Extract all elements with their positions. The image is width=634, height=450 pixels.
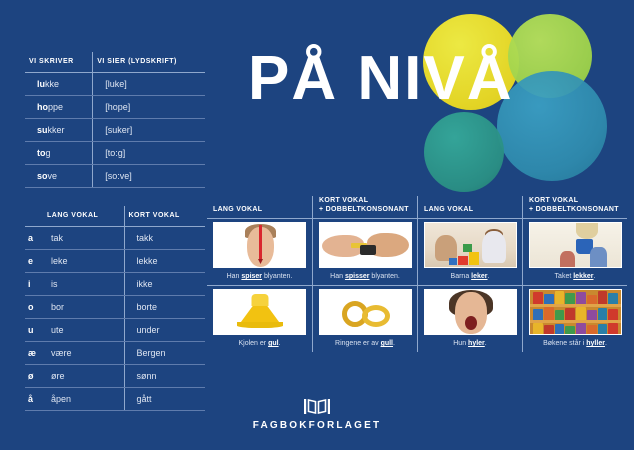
example-caption: Hun hyler.	[424, 335, 516, 352]
children-playing-photo	[424, 222, 517, 268]
examples-header-row: LANG VOKAL KORT VOKAL + DOBBELTKONSONANT…	[207, 196, 627, 218]
spelling-write-cell: tog	[25, 142, 93, 165]
vowel-long-word: være	[43, 342, 124, 365]
vowel-table-header-row: LANG VOKAL KORT VOKAL	[25, 206, 205, 227]
spelling-say-cell: [suker]	[93, 119, 205, 142]
examples-header-3: KORT VOKAL + DOBBELTKONSONANT	[522, 196, 627, 218]
vowel-letter: a	[25, 227, 43, 250]
vowel-short-word: takk	[124, 227, 205, 250]
vowel-header-spacer	[25, 206, 43, 227]
vowel-short-word: Bergen	[124, 342, 205, 365]
example-cell: Han spiser blyanten.	[207, 218, 312, 285]
spelling-write-cell: sove	[25, 165, 93, 188]
table-row: sove [so:ve]	[25, 165, 205, 188]
vowel-short-word: sønn	[124, 365, 205, 388]
table-row: o bor borte	[25, 296, 205, 319]
footer: FAGBOKFORLAGET	[0, 398, 634, 431]
table-row: i is ikke	[25, 273, 205, 296]
hands-sharpening-pencil-photo	[319, 222, 412, 268]
header-line-1: LANG VOKAL	[213, 206, 262, 213]
vowel-short-word: lekke	[124, 250, 205, 273]
example-cell: Hun hyler.	[417, 285, 522, 352]
spelling-table: VI SKRIVER VI SIER (LYDSKRIFT) lukke [lu…	[25, 52, 205, 188]
table-row: ø øre sønn	[25, 365, 205, 388]
spelling-header-say: VI SIER (LYDSKRIFT)	[93, 52, 205, 73]
examples-grid: LANG VOKAL KORT VOKAL + DOBBELTKONSONANT…	[207, 196, 627, 352]
vowel-header-long: LANG VOKAL	[43, 206, 124, 227]
table-gap	[25, 188, 205, 206]
spelling-write-cell: hoppe	[25, 96, 93, 119]
table-row: a tak takk	[25, 227, 205, 250]
vowel-letter: o	[25, 296, 43, 319]
header-line-1: KORT VOKAL	[319, 197, 368, 204]
vowel-letter: u	[25, 319, 43, 342]
leaking-roof-bucket-photo	[529, 222, 622, 268]
example-caption: Bøkene står i hyller.	[529, 335, 621, 352]
boy-with-pencil-photo	[213, 222, 306, 268]
example-cell: Kjolen er gul.	[207, 285, 312, 352]
vowel-header-short: KORT VOKAL	[124, 206, 205, 227]
left-tables-group: VI SKRIVER VI SIER (LYDSKRIFT) lukke [lu…	[25, 52, 205, 411]
table-row: e leke lekke	[25, 250, 205, 273]
examples-header-0: LANG VOKAL	[207, 196, 312, 218]
vowel-long-word: leke	[43, 250, 124, 273]
publisher-name: FAGBOKFORLAGET	[0, 420, 634, 431]
gold-rings-photo	[319, 289, 412, 335]
vowel-letter: i	[25, 273, 43, 296]
example-cell: Taket lekker.	[522, 218, 627, 285]
vowel-letter: ø	[25, 365, 43, 388]
table-row: æ være Bergen	[25, 342, 205, 365]
vowel-long-word: øre	[43, 365, 124, 388]
spelling-header-write: VI SKRIVER	[25, 52, 93, 73]
example-cell: Ringene er av gull.	[312, 285, 417, 352]
table-row: hoppe [hope]	[25, 96, 205, 119]
poster-root: PÅ NIVÅ VI SKRIVER VI SIER (LYDSKRIFT) l…	[0, 0, 634, 450]
spelling-table-header-row: VI SKRIVER VI SIER (LYDSKRIFT)	[25, 52, 205, 73]
spelling-say-cell: [to:g]	[93, 142, 205, 165]
spelling-write-cell: lukke	[25, 73, 93, 96]
vowel-long-word: bor	[43, 296, 124, 319]
spelling-write-cell: sukker	[25, 119, 93, 142]
yellow-dress-photo	[213, 289, 306, 335]
example-caption: Ringene er av gull.	[319, 335, 411, 352]
header-line-1: LANG VOKAL	[424, 206, 473, 213]
vowel-short-word: borte	[124, 296, 205, 319]
examples-header-2: LANG VOKAL	[417, 196, 522, 218]
example-cell: Bøkene står i hyller.	[522, 285, 627, 352]
vowel-long-word: tak	[43, 227, 124, 250]
examples-row: Kjolen er gul. Ringene er av gull. Hun h…	[207, 285, 627, 352]
spelling-say-cell: [hope]	[93, 96, 205, 119]
screaming-woman-photo	[424, 289, 517, 335]
circle-teal-icon	[424, 112, 504, 192]
header-line-1: KORT VOKAL	[529, 197, 578, 204]
example-caption: Barna leker.	[424, 268, 516, 285]
vowel-letter: e	[25, 250, 43, 273]
circle-blue-icon	[497, 71, 607, 181]
vowel-long-word: is	[43, 273, 124, 296]
example-caption: Han spiser blyanten.	[213, 268, 306, 285]
table-row: lukke [luke]	[25, 73, 205, 96]
vowel-long-word: ute	[43, 319, 124, 342]
table-row: tog [to:g]	[25, 142, 205, 165]
example-caption: Kjolen er gul.	[213, 335, 306, 352]
bookshelf-photo	[529, 289, 622, 335]
spelling-say-cell: [luke]	[93, 73, 205, 96]
open-book-icon	[304, 398, 330, 415]
page-title: PÅ NIVÅ	[248, 48, 513, 110]
example-cell: Barna leker.	[417, 218, 522, 285]
vowel-short-word: ikke	[124, 273, 205, 296]
example-caption: Taket lekker.	[529, 268, 621, 285]
example-cell: Han spisser blyanten.	[312, 218, 417, 285]
table-row: sukker [suker]	[25, 119, 205, 142]
examples-header-1: KORT VOKAL + DOBBELTKONSONANT	[312, 196, 417, 218]
header-line-2: + DOBBELTKONSONANT	[319, 206, 409, 213]
spelling-say-cell: [so:ve]	[93, 165, 205, 188]
vowel-letter: æ	[25, 342, 43, 365]
table-row: u ute under	[25, 319, 205, 342]
vowel-short-word: under	[124, 319, 205, 342]
examples-row: Han spiser blyanten. Han spisser blyante…	[207, 218, 627, 285]
example-caption: Han spisser blyanten.	[319, 268, 411, 285]
header-line-2: + DOBBELTKONSONANT	[529, 206, 619, 213]
vowel-table: LANG VOKAL KORT VOKAL a tak takk e leke …	[25, 206, 205, 411]
